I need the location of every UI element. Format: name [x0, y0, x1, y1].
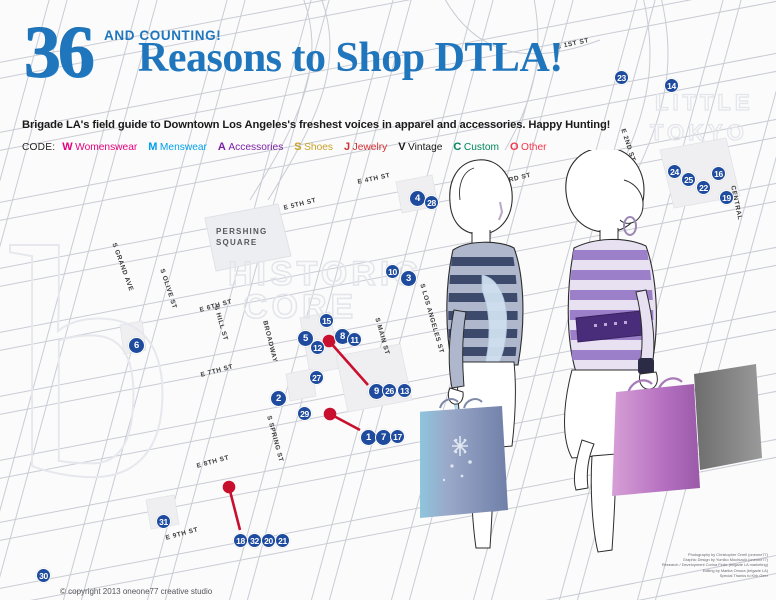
map-marker-6[interactable]: 6	[128, 337, 145, 354]
map-marker-26[interactable]: 26	[382, 383, 397, 398]
code-item-accessories: AAccessories	[218, 142, 283, 153]
map-marker-31[interactable]: 31	[156, 514, 171, 529]
credit-line: Special Thanks to Kirk Geer	[662, 573, 768, 578]
map-marker-15[interactable]: 15	[319, 313, 334, 328]
code-letter: W	[62, 141, 72, 153]
code-item-custom: CCustom	[453, 142, 499, 153]
code-text: Other	[521, 142, 546, 153]
map-marker-27[interactable]: 27	[309, 370, 324, 385]
shopper-left	[420, 160, 538, 548]
credits-block: Photography by Christopher Orrell (oneon…	[662, 552, 768, 578]
map-marker-14[interactable]: 14	[664, 78, 679, 93]
code-text: Vintage	[408, 142, 442, 153]
map-marker-3[interactable]: 3	[400, 270, 417, 287]
shoppers-svg	[420, 150, 776, 570]
code-letter: C	[453, 141, 461, 153]
code-item-menswear: MMenswear	[148, 142, 207, 153]
code-letter: A	[218, 141, 226, 153]
map-marker-2[interactable]: 2	[270, 390, 287, 407]
map-marker-21[interactable]: 21	[275, 533, 290, 548]
copyright-text: © copyright 2013 oneone77 creative studi…	[60, 587, 212, 596]
code-text: Custom	[464, 142, 499, 153]
code-letter: V	[398, 141, 405, 153]
code-item-jewelry: JJewelry	[344, 142, 387, 153]
code-legend-label: CODE:	[22, 142, 55, 153]
code-text: Shoes	[304, 142, 333, 153]
code-item-vintage: VVintage	[398, 142, 442, 153]
shopper-illustration	[420, 150, 776, 570]
shopping-bag-blue	[420, 399, 508, 518]
code-letter: M	[148, 141, 157, 153]
map-marker-17[interactable]: 17	[390, 429, 405, 444]
map-marker-29[interactable]: 29	[297, 406, 312, 421]
shopper-right	[548, 150, 762, 552]
map-marker-32[interactable]: 32	[247, 533, 262, 548]
map-marker-30[interactable]: 30	[36, 568, 51, 583]
map-marker-10[interactable]: 10	[385, 264, 400, 279]
code-legend-items: WWomenswearMMenswearAAccessoriesSShoesJJ…	[62, 141, 557, 153]
code-item-shoes: SShoes	[294, 142, 333, 153]
page-title-number: 36	[24, 16, 92, 90]
code-letter: S	[294, 141, 301, 153]
code-text: Accessories	[228, 142, 283, 153]
page-title: Reasons to Shop DTLA!	[138, 36, 563, 80]
code-text: Menswear	[160, 142, 207, 153]
code-text: Jewelry	[353, 142, 388, 153]
map-marker-13[interactable]: 13	[397, 383, 412, 398]
map-marker-20[interactable]: 20	[261, 533, 276, 548]
map-marker-12[interactable]: 12	[310, 340, 325, 355]
code-letter: O	[510, 141, 519, 153]
code-letter: J	[344, 141, 350, 153]
code-text: Womenswear	[75, 142, 137, 153]
map-marker-18[interactable]: 18	[233, 533, 248, 548]
shopping-bag-purple	[612, 378, 700, 496]
code-item-womenswear: WWomenswear	[62, 142, 137, 153]
title-row: 36 AND COUNTING! Reasons to Shop DTLA!	[18, 18, 640, 90]
header: 36 AND COUNTING! Reasons to Shop DTLA!	[0, 0, 640, 90]
credit-line: Research / Development Corina Finlie (br…	[662, 562, 768, 567]
infographic-page: b HISTORIC CORE LITTLE TOKYO PERSHING SQ…	[0, 0, 776, 600]
shopping-bag-gray	[694, 364, 762, 470]
subtitle: Brigade LA's field guide to Downtown Los…	[22, 119, 610, 131]
code-legend: CODE: WWomenswearMMenswearAAccessoriesSS…	[22, 141, 558, 153]
code-item-other: OOther	[510, 142, 547, 153]
map-marker-11[interactable]: 11	[347, 332, 362, 347]
